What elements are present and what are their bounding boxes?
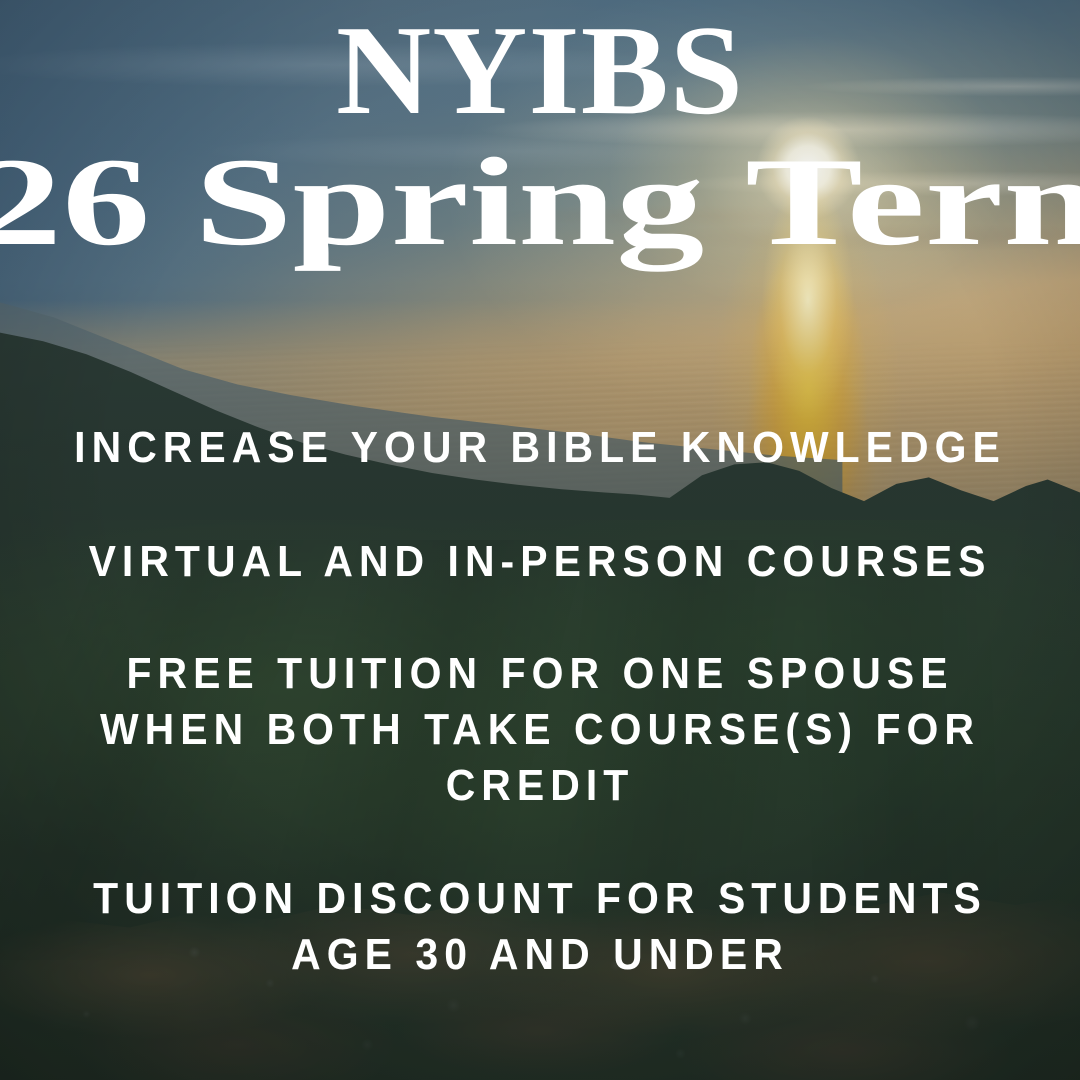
- poster-content: NYIBS 2026 Spring Term 2 INCREASE YOUR B…: [0, 0, 1080, 1080]
- highlight-spouse-free-tuition: FREE TUITION FOR ONE SPOUSE WHEN BOTH TA…: [38, 646, 1042, 814]
- term-title: 2026 Spring Term 2: [0, 134, 1080, 266]
- highlights-block: INCREASE YOUR BIBLE KNOWLEDGE VIRTUAL AN…: [0, 420, 1080, 983]
- title-block: NYIBS 2026 Spring Term 2: [0, 0, 1080, 266]
- highlight-bible-knowledge: INCREASE YOUR BIBLE KNOWLEDGE: [38, 420, 1042, 476]
- highlight-young-student-discount: TUITION DISCOUNT FOR STUDENTS AGE 30 AND…: [38, 871, 1042, 983]
- organization-name: NYIBS: [0, 0, 1080, 134]
- highlight-course-formats: VIRTUAL AND IN-PERSON COURSES: [38, 534, 1042, 590]
- promo-poster: NYIBS 2026 Spring Term 2 INCREASE YOUR B…: [0, 0, 1080, 1080]
